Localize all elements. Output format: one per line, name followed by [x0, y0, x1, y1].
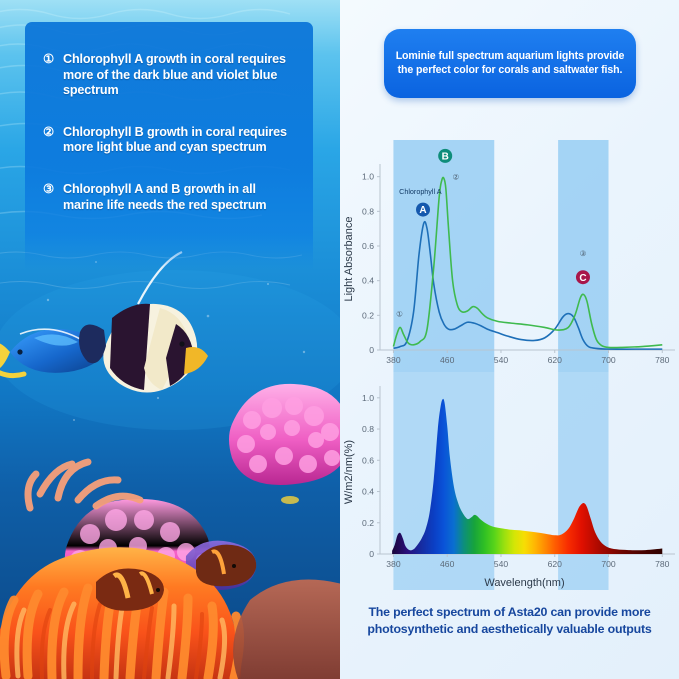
svg-text:780: 780	[655, 355, 670, 365]
underwater-photo-panel: ① Chlorophyll A growth in coral requires…	[0, 0, 340, 679]
svg-text:0.4: 0.4	[362, 487, 374, 497]
svg-text:0.2: 0.2	[362, 310, 374, 320]
info-text: Chlorophyll A growth in coral requires m…	[63, 52, 299, 99]
svg-text:A: A	[419, 205, 426, 216]
absorbance-plot: 00.20.40.60.81.0380460540620700780Light …	[340, 140, 679, 372]
spectral-output-chart: 00.20.40.60.81.0380460540620700780W/m2/n…	[340, 372, 679, 590]
svg-text:0.6: 0.6	[362, 241, 374, 251]
info-number: ③	[43, 182, 59, 213]
svg-text:380: 380	[386, 355, 401, 365]
svg-text:③: ③	[580, 249, 587, 258]
spectrum-panel: Lominie full spectrum aquarium lights pr…	[340, 0, 679, 679]
info-number: ①	[43, 52, 59, 99]
svg-text:0.2: 0.2	[362, 518, 374, 528]
product-infographic: ① Chlorophyll A growth in coral requires…	[0, 0, 679, 679]
svg-text:②: ②	[453, 173, 460, 182]
clownfish	[96, 569, 164, 611]
svg-text:780: 780	[655, 559, 670, 569]
svg-text:①: ①	[396, 310, 403, 319]
product-claim-banner: Lominie full spectrum aquarium lights pr…	[384, 29, 636, 98]
svg-text:W/m2/nm(%): W/m2/nm(%)	[343, 440, 355, 504]
svg-text:Chlorophyll A: Chlorophyll A	[399, 187, 442, 196]
info-item: ① Chlorophyll A growth in coral requires…	[43, 52, 299, 99]
svg-text:540: 540	[494, 355, 509, 365]
svg-text:C: C	[579, 273, 586, 284]
svg-text:0: 0	[369, 345, 374, 355]
svg-text:540: 540	[494, 559, 509, 569]
info-item: ② Chlorophyll B growth in coral requires…	[43, 125, 299, 156]
banner-text: Lominie full spectrum aquarium lights pr…	[394, 50, 626, 77]
svg-text:380: 380	[386, 559, 401, 569]
svg-text:620: 620	[548, 559, 563, 569]
svg-text:700: 700	[601, 355, 616, 365]
chlorophyll-info-box: ① Chlorophyll A growth in coral requires…	[25, 22, 313, 270]
svg-text:620: 620	[548, 355, 563, 365]
bottom-caption: The perfect spectrum of Asta20 can provi…	[340, 604, 679, 637]
svg-text:Chlorophyll B: Chlorophyll B	[424, 140, 467, 141]
svg-text:B: B	[442, 151, 449, 162]
info-text: Chlorophyll B growth in coral requires m…	[63, 125, 299, 156]
svg-text:460: 460	[440, 355, 455, 365]
svg-text:0.6: 0.6	[362, 455, 374, 465]
svg-text:0.4: 0.4	[362, 276, 374, 286]
svg-text:Wavelength(nm): Wavelength(nm)	[484, 577, 564, 589]
output-plot: 00.20.40.60.81.0380460540620700780W/m2/n…	[340, 372, 679, 590]
svg-text:1.0: 1.0	[362, 172, 374, 182]
light-absorbance-chart: 00.20.40.60.81.0380460540620700780Light …	[340, 140, 679, 372]
info-item: ③ Chlorophyll A and B growth in all mari…	[43, 182, 299, 213]
svg-text:0.8: 0.8	[362, 424, 374, 434]
info-number: ②	[43, 125, 59, 156]
svg-text:Light Absorbance: Light Absorbance	[343, 216, 355, 301]
svg-text:1.0: 1.0	[362, 393, 374, 403]
svg-text:0.8: 0.8	[362, 206, 374, 216]
info-text: Chlorophyll A and B growth in all marine…	[63, 182, 299, 213]
svg-text:460: 460	[440, 559, 455, 569]
svg-text:700: 700	[601, 559, 616, 569]
svg-text:0: 0	[369, 549, 374, 559]
